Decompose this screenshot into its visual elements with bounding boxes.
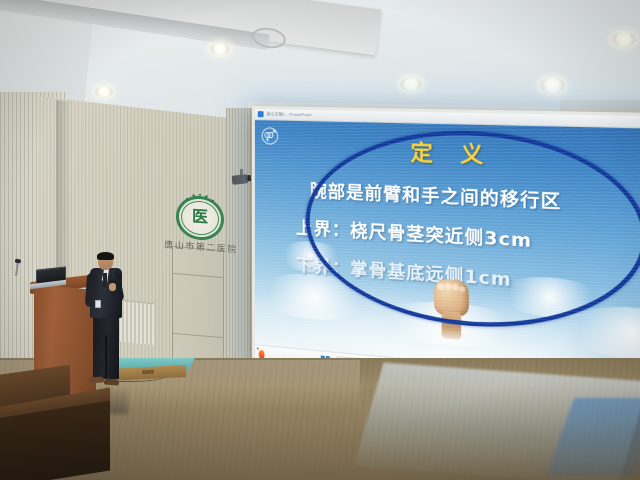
lecture-hall-photo: 医 唐山市第二医院 演示文稿1 - PowerPoint ⚤: [0, 0, 640, 480]
name-badge: [95, 300, 101, 308]
presenter-person: [84, 253, 128, 393]
presenter-laptop: [30, 268, 68, 290]
downlight: [95, 86, 113, 97]
downlight: [540, 78, 565, 93]
slide-canvas[interactable]: ⚤ 定 义 腕部是前臂和手之间的移行区 上界：桡尺骨茎突近侧3cm 下界：掌骨基…: [255, 120, 640, 383]
powerpoint-icon: [258, 111, 264, 117]
logo-star-dots: [184, 193, 216, 205]
window-title: 演示文稿1 - PowerPoint: [266, 111, 311, 118]
downlight: [210, 43, 230, 55]
side-door: [172, 246, 224, 369]
hospital-logo: 医: [176, 194, 224, 241]
security-camera-icon: [232, 174, 249, 185]
logo-glyph: 医: [188, 205, 212, 231]
downlight: [400, 78, 422, 91]
front-bench: [0, 398, 110, 480]
downlight: [612, 32, 636, 46]
